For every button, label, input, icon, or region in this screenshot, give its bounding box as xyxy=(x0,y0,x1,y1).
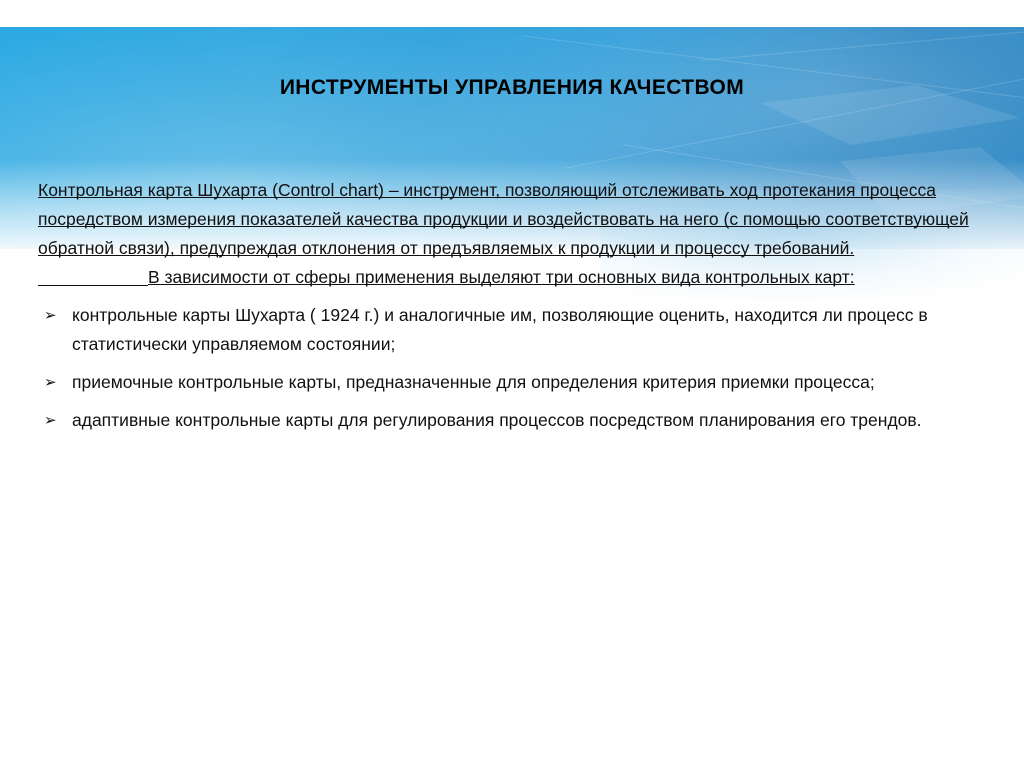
bullet-arrow-icon: ➢ xyxy=(44,406,57,435)
paragraph-types-intro-text: В зависимости от сферы применения выделя… xyxy=(148,267,855,287)
list-item: ➢ приемочные контрольные карты, предназн… xyxy=(38,368,990,397)
list-item: ➢ адаптивные контрольные карты для регул… xyxy=(38,406,990,435)
bullet-arrow-icon: ➢ xyxy=(44,301,57,330)
bullet-arrow-icon: ➢ xyxy=(44,368,57,397)
slide-body: Контрольная карта Шухарта (Control chart… xyxy=(38,176,990,435)
paragraph-definition: Контрольная карта Шухарта (Control chart… xyxy=(38,176,990,263)
paragraph-indent-rule xyxy=(38,267,148,286)
list-item-label: адаптивные контрольные карты для регулир… xyxy=(72,410,922,430)
list-item: ➢ контрольные карты Шухарта ( 1924 г.) и… xyxy=(38,301,990,359)
list-item-label: контрольные карты Шухарта ( 1924 г.) и а… xyxy=(72,305,928,354)
slide: ИНСТРУМЕНТЫ УПРАВЛЕНИЯ КАЧЕСТВОМ Контрол… xyxy=(0,0,1024,767)
page-title: ИНСТРУМЕНТЫ УПРАВЛЕНИЯ КАЧЕСТВОМ xyxy=(0,76,1024,100)
bullet-list: ➢ контрольные карты Шухарта ( 1924 г.) и… xyxy=(38,301,990,435)
list-item-label: приемочные контрольные карты, предназнач… xyxy=(72,372,875,392)
paragraph-definition-term: Контрольная карта xyxy=(38,180,197,200)
paragraph-types-intro: В зависимости от сферы применения выделя… xyxy=(38,263,990,292)
